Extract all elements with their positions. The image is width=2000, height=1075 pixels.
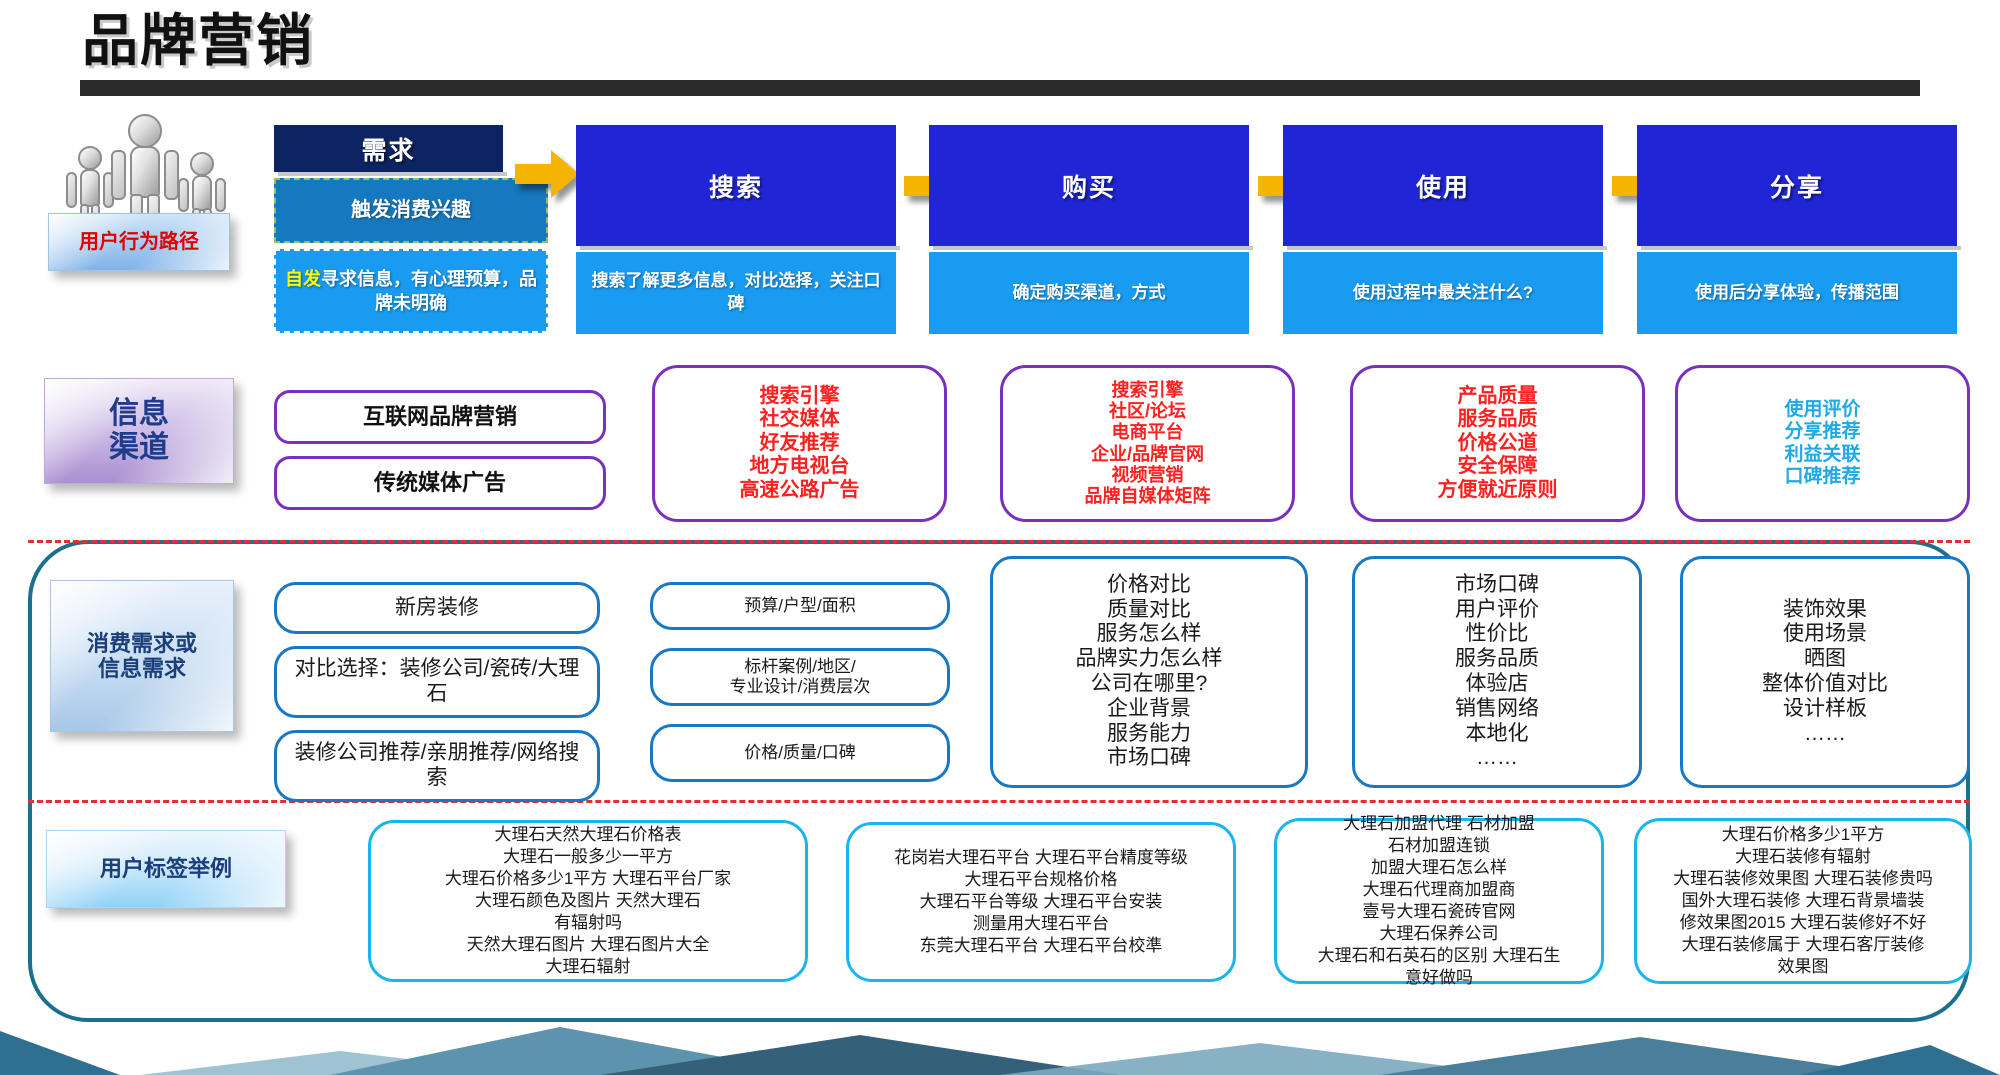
stage-head-share-text: 分享 (1770, 168, 1824, 204)
stage-head-purchase: 购买 (929, 125, 1249, 246)
stage-head-demand: 需求 (274, 125, 503, 172)
channel-item: 使用评价 (1784, 399, 1860, 421)
channel-item: 搜索引擎 (1112, 380, 1184, 401)
needs-item: 销售网络 (1455, 697, 1539, 722)
needs-item: 市场口碑 (1107, 746, 1191, 771)
tag-examples-col-2-text: 花岗岩大理石平台 大理石平台精度等级 大理石平台规格价格 大理石平台等级 大理石… (894, 847, 1188, 957)
needs-item: 质量对比 (1107, 598, 1191, 623)
channel-column-usage[interactable]: 产品质量 服务品质 价格公道 安全保障 方便就近原则 (1350, 365, 1645, 522)
needs-box-budget-text: 预算/户型/面积 (744, 596, 855, 616)
label-info-channel-line2: 渠道 (103, 431, 175, 466)
needs-box-recommendation-text: 装修公司推荐/亲朋推荐/网络搜索 (289, 741, 585, 791)
stage-head-search-text: 搜索 (709, 168, 763, 204)
label-consumer-needs: 消费需求或 信息需求 (50, 580, 234, 732)
channel-column-purchase[interactable]: 搜索引擎 社区/论坛 电商平台 企业/品牌官网 视频营销 品牌自媒体矩阵 (1000, 365, 1295, 522)
label-info-channel-line1: 信息 (103, 397, 175, 432)
stage-sub-demand-hl: 自发 (285, 269, 321, 289)
needs-box-price-quality-text: 价格/质量/口碑 (744, 743, 855, 763)
channel-item: 搜索引擎 (760, 385, 840, 409)
stage-sub-share-text: 使用后分享体验，传播范围 (1695, 282, 1899, 305)
needs-item: 服务能力 (1107, 722, 1191, 747)
channel-item: 社交媒体 (760, 408, 840, 432)
stage-sub-share: 使用后分享体验，传播范围 (1637, 252, 1957, 334)
stage-sub-demand-text: 自发寻求信息，有心理预算，品牌未明确 (284, 267, 538, 316)
needs-item: 服务怎么样 (1097, 622, 1202, 647)
needs-box-compare-choice[interactable]: 对比选择：装修公司/瓷砖/大理石 (274, 646, 600, 718)
stage-head-purchase-text: 购买 (1062, 168, 1116, 204)
stage-sub-demand-highlight-text: 触发消费兴趣 (351, 197, 471, 224)
tag-examples-col-3[interactable]: 大理石加盟代理 石材加盟 石材加盟连锁 加盟大理石怎么样 大理石代理商加盟商 壹… (1274, 818, 1604, 984)
channel-column-share[interactable]: 使用评价 分享推荐 利益关联 口碑推荐 (1675, 365, 1970, 522)
needs-item: 体验店 (1466, 672, 1529, 697)
tag-examples-col-2[interactable]: 花岗岩大理石平台 大理石平台精度等级 大理石平台规格价格 大理石平台等级 大理石… (846, 822, 1236, 982)
stage-head-usage: 使用 (1283, 125, 1603, 246)
stage-head-share: 分享 (1637, 125, 1957, 246)
needs-item: …… (1804, 722, 1846, 747)
channel-column-search[interactable]: 搜索引擎 社交媒体 好友推荐 地方电视台 高速公路广告 (652, 365, 947, 522)
flow-arrow-1 (515, 148, 579, 200)
needs-item: 公司在哪里? (1091, 672, 1208, 697)
stage-sub-purchase: 确定购买渠道，方式 (929, 252, 1249, 334)
needs-item: 性价比 (1466, 622, 1529, 647)
channel-item: 利益关联 (1784, 444, 1860, 466)
stage-head-demand-text: 需求 (361, 131, 415, 167)
title-underline-bar (80, 80, 1920, 96)
tag-examples-col-1-text: 大理石天然大理石价格表 大理石一般多少一平方 大理石价格多少1平方 大理石平台厂… (445, 824, 731, 979)
needs-item: 品牌实力怎么样 (1076, 647, 1223, 672)
channel-item: 方便就近原则 (1438, 479, 1558, 503)
stage-head-usage-text: 使用 (1416, 168, 1470, 204)
label-consumer-needs-line1: 消费需求或 (81, 631, 203, 656)
stage-sub-purchase-text: 确定购买渠道，方式 (1013, 282, 1166, 305)
channel-box-traditional-media[interactable]: 传统媒体广告 (274, 456, 606, 510)
needs-item: 服务品质 (1455, 647, 1539, 672)
channel-item: 服务品质 (1458, 408, 1538, 432)
label-info-channel: 信息 渠道 (44, 378, 234, 484)
divider-needs-top (28, 540, 1970, 543)
channel-item: 地方电视台 (750, 455, 850, 479)
needs-column-usage[interactable]: 市场口碑 用户评价 性价比 服务品质 体验店 销售网络 本地化 …… (1352, 556, 1642, 788)
channel-item: 价格公道 (1458, 432, 1538, 456)
needs-item: 晒图 (1804, 647, 1846, 672)
stage-sub-search-text: 搜索了解更多信息，对比选择，关注口碑 (584, 270, 888, 316)
stage-sub-demand-rest: 寻求信息，有心理预算，品牌未明确 (321, 269, 537, 313)
needs-box-benchmark-text: 标杆案例/地区/ 专业设计/消费层次 (730, 657, 871, 697)
channel-item: 好友推荐 (760, 432, 840, 456)
needs-item: 本地化 (1466, 722, 1529, 747)
needs-box-compare-choice-text: 对比选择：装修公司/瓷砖/大理石 (289, 657, 585, 707)
channel-item: 品牌自媒体矩阵 (1085, 486, 1211, 507)
channel-item: 安全保障 (1458, 455, 1538, 479)
needs-item: 用户评价 (1455, 598, 1539, 623)
channel-item: 电商平台 (1112, 422, 1184, 443)
stage-sub-usage-text: 使用过程中最关注什么? (1353, 282, 1533, 305)
needs-box-new-home-text: 新房装修 (395, 596, 479, 621)
stage-sub-demand: 自发寻求信息，有心理预算，品牌未明确 (274, 249, 548, 333)
channel-box-traditional-media-text: 传统媒体广告 (374, 470, 506, 496)
stage-head-search: 搜索 (576, 125, 896, 246)
channel-item: 视频营销 (1112, 465, 1184, 486)
tag-examples-col-4-text: 大理石价格多少1平方 大理石装修有辐射 大理石装修效果图 大理石装修贵吗 国外大… (1673, 824, 1933, 979)
needs-column-share[interactable]: 装饰效果 使用场景 晒图 整体价值对比 设计样板 …… (1680, 556, 1970, 788)
needs-box-new-home[interactable]: 新房装修 (274, 582, 600, 634)
needs-item: …… (1476, 746, 1518, 771)
channel-box-internet-marketing[interactable]: 互联网品牌营销 (274, 390, 606, 444)
needs-box-budget[interactable]: 预算/户型/面积 (650, 582, 950, 630)
bottom-decoration (0, 965, 2000, 1075)
tag-examples-col-4[interactable]: 大理石价格多少1平方 大理石装修有辐射 大理石装修效果图 大理石装修贵吗 国外大… (1634, 818, 1972, 984)
needs-item: 整体价值对比 (1762, 672, 1888, 697)
label-user-behavior-path-text: 用户行为路径 (73, 231, 205, 254)
channel-item: 分享推荐 (1784, 421, 1860, 443)
needs-item: 使用场景 (1783, 622, 1867, 647)
needs-item: 市场口碑 (1455, 573, 1539, 598)
needs-column-purchase[interactable]: 价格对比 质量对比 服务怎么样 品牌实力怎么样 公司在哪里? 企业背景 服务能力… (990, 556, 1308, 788)
stage-sub-search: 搜索了解更多信息，对比选择，关注口碑 (576, 252, 896, 334)
stage-sub-usage: 使用过程中最关注什么? (1283, 252, 1603, 334)
needs-item: 装饰效果 (1783, 598, 1867, 623)
channel-item: 企业/品牌官网 (1091, 444, 1204, 465)
channel-item: 高速公路广告 (740, 479, 860, 503)
needs-box-benchmark[interactable]: 标杆案例/地区/ 专业设计/消费层次 (650, 648, 950, 706)
needs-item: 企业背景 (1107, 697, 1191, 722)
stage-sub-demand-highlight: 触发消费兴趣 (274, 178, 548, 243)
page-title: 品牌营销 (82, 0, 314, 77)
label-user-tag-examples: 用户标签举例 (46, 830, 286, 908)
channel-item: 口碑推荐 (1784, 466, 1860, 488)
tag-examples-col-1[interactable]: 大理石天然大理石价格表 大理石一般多少一平方 大理石价格多少1平方 大理石平台厂… (368, 820, 808, 982)
label-user-behavior-path: 用户行为路径 (48, 213, 230, 271)
tag-examples-col-3-text: 大理石加盟代理 石材加盟 石材加盟连锁 加盟大理石怎么样 大理石代理商加盟商 壹… (1318, 813, 1561, 990)
channel-box-internet-marketing-text: 互联网品牌营销 (363, 404, 517, 430)
channel-item: 产品质量 (1458, 385, 1538, 409)
label-consumer-needs-line2: 信息需求 (92, 656, 192, 681)
label-user-tag-examples-text: 用户标签举例 (94, 856, 238, 881)
channel-item: 社区/论坛 (1109, 401, 1186, 422)
needs-item: 设计样板 (1783, 697, 1867, 722)
needs-item: 价格对比 (1107, 573, 1191, 598)
needs-box-recommendation[interactable]: 装修公司推荐/亲朋推荐/网络搜索 (274, 730, 600, 802)
needs-box-price-quality[interactable]: 价格/质量/口碑 (650, 724, 950, 782)
